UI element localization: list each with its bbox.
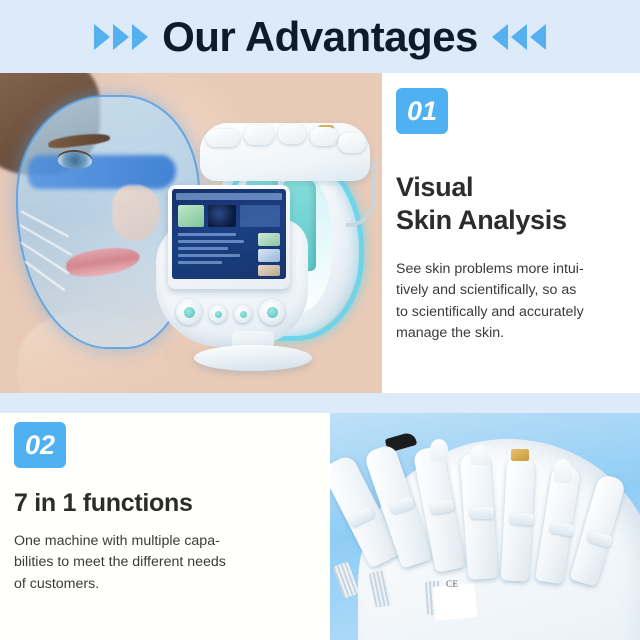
screen-toolbar [176, 193, 282, 200]
machine-screen-frame [168, 185, 290, 289]
control-knob[interactable] [234, 305, 252, 323]
gold-microneedle-tip [511, 449, 529, 461]
control-knob-group [176, 299, 286, 329]
section-1-body: See skin problems more intui- tively and… [396, 259, 634, 344]
handpiece-clip [470, 507, 494, 519]
triangle-left-icon [530, 24, 546, 50]
page-title: Our Advantages [162, 16, 478, 58]
section-2-text: 02 7 in 1 functions One machine with mul… [0, 413, 330, 640]
machine-base [194, 345, 312, 371]
section-1-heading: Visual Skin Analysis [396, 171, 567, 237]
screen-panel [240, 205, 280, 227]
handpiece-tip [470, 445, 490, 465]
skin-analysis-machine [150, 123, 376, 385]
section-number-badge-01: 01 [396, 88, 448, 134]
handpiece-cord [333, 561, 360, 598]
handpiece-holder [244, 125, 274, 145]
left-arrows-group [94, 24, 148, 50]
handpiece-holder [310, 127, 338, 146]
machine-display [172, 189, 286, 279]
screen-text-line [178, 247, 228, 250]
machine-top-tray [200, 123, 370, 181]
section-2-body: One machine with multiple capa- bilities… [14, 531, 314, 595]
screen-thumbnail [258, 249, 280, 262]
section-2-heading: 7 in 1 functions [14, 488, 193, 518]
page-header: Our Advantages [0, 0, 640, 73]
handpiece-tip [554, 459, 572, 483]
screen-thumbnail [258, 233, 280, 246]
section-1-text: 01 Visual Skin Analysis See skin problem… [394, 73, 640, 393]
control-knob[interactable] [176, 299, 202, 325]
handpiece-tip [430, 439, 448, 461]
section-1-media [0, 73, 382, 393]
ce-mark-label: CE [446, 579, 459, 589]
triangle-left-icon [492, 24, 508, 50]
advantage-section-2: 02 7 in 1 functions One machine with mul… [0, 413, 640, 640]
handpiece-holder [206, 129, 240, 147]
control-knob[interactable] [209, 305, 227, 323]
handpiece-holder [278, 124, 306, 144]
eye-shape [58, 152, 92, 169]
control-knob[interactable] [259, 299, 285, 325]
triangle-right-icon [94, 24, 110, 50]
handpiece-clip [510, 512, 535, 526]
section-divider [0, 393, 640, 413]
screen-image-tile [208, 205, 236, 227]
triangle-left-icon [511, 24, 527, 50]
advantage-section-1: 01 Visual Skin Analysis See skin problem… [0, 73, 640, 393]
screen-image-tile [178, 205, 204, 227]
section-2-media: CE [330, 413, 640, 640]
handpiece-holder [338, 133, 366, 153]
screen-text-line [178, 233, 236, 236]
screen-text-line [178, 254, 240, 257]
screen-text-line [178, 240, 244, 243]
advantages-infographic: Our Advantages [0, 0, 640, 640]
right-arrows-group [492, 24, 546, 50]
triangle-right-icon [113, 24, 129, 50]
screen-thumbnail [258, 265, 280, 276]
screen-text-line [178, 261, 222, 264]
triangle-right-icon [132, 24, 148, 50]
section-number-badge-02: 02 [14, 422, 66, 468]
